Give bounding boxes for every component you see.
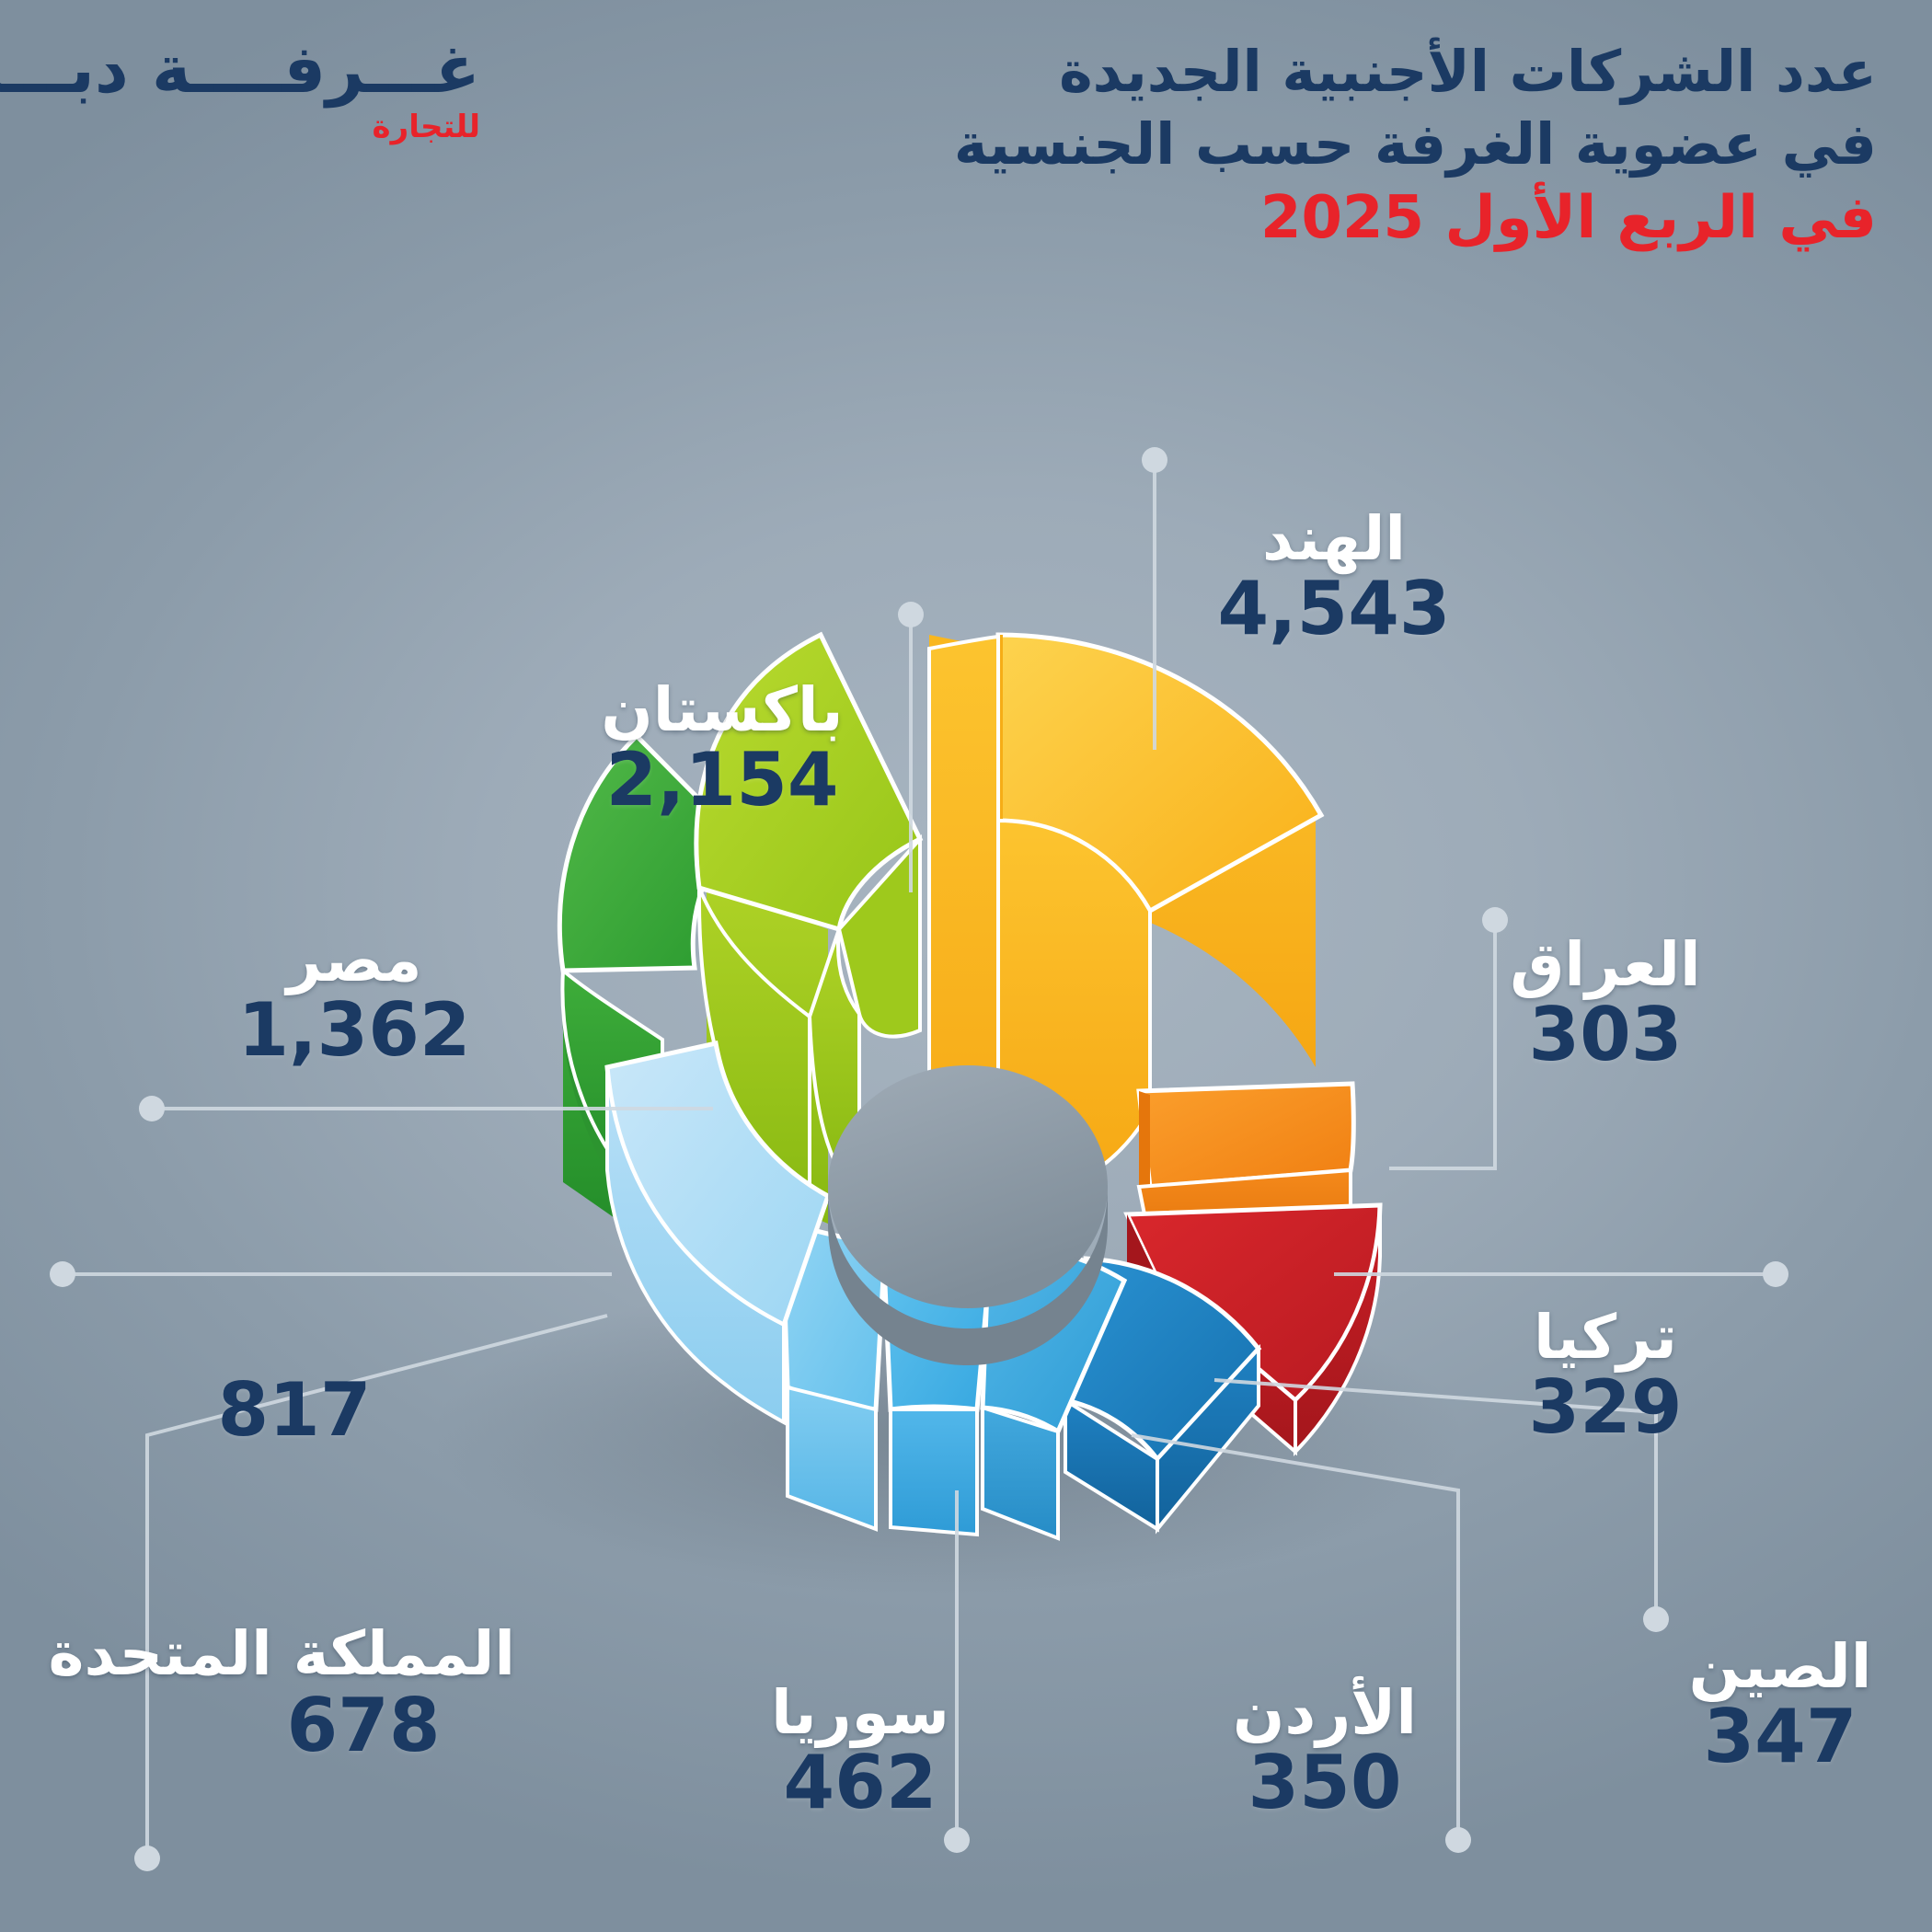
label-china-value: 347 <box>1647 1699 1914 1775</box>
label-syria[interactable]: سوريا 462 <box>727 1682 994 1821</box>
label-india-value: 4,543 <box>1196 571 1472 647</box>
label-egypt[interactable]: مصر 1,362 <box>221 929 488 1068</box>
label-iraq[interactable]: العراق 303 <box>1472 934 1739 1073</box>
label-turkey-value: 329 <box>1472 1370 1739 1445</box>
label-china-name: الصين <box>1647 1636 1914 1697</box>
label-pakistan-value: 2,154 <box>589 742 856 818</box>
label-united-kingdom-name: المملكة المتحدة <box>212 1621 515 1686</box>
infographic-poster: غـــرفــــة دبـــي للتجارة عدد الشركات ا… <box>0 0 1932 1932</box>
label-jordan[interactable]: الأردن 350 <box>1191 1682 1458 1821</box>
label-iraq-name: العراق <box>1472 934 1739 995</box>
label-egypt-name: مصر <box>221 929 488 991</box>
label-jordan-value: 350 <box>1191 1745 1458 1821</box>
label-india-name: الهند <box>1196 508 1472 569</box>
label-817[interactable]: 817 <box>161 1371 428 1448</box>
label-egypt-value: 1,362 <box>221 993 488 1068</box>
label-united-kingdom-value: 678 <box>212 1688 515 1764</box>
label-iraq-value: 303 <box>1472 997 1739 1073</box>
label-syria-name: سوريا <box>727 1682 994 1743</box>
label-pakistan-name: باكستان <box>589 679 856 741</box>
label-turkey-name: تركيا <box>1472 1306 1739 1368</box>
label-pakistan[interactable]: باكستان 2,154 <box>589 679 856 818</box>
label-united-kingdom[interactable]: المملكة المتحدة 678 <box>212 1621 515 1764</box>
label-turkey[interactable]: تركيا 329 <box>1472 1306 1739 1445</box>
label-india[interactable]: الهند 4,543 <box>1196 508 1472 647</box>
label-817-value: 817 <box>161 1373 428 1448</box>
label-jordan-name: الأردن <box>1191 1682 1458 1743</box>
label-syria-value: 462 <box>727 1745 994 1821</box>
label-china[interactable]: الصين 347 <box>1647 1636 1914 1775</box>
